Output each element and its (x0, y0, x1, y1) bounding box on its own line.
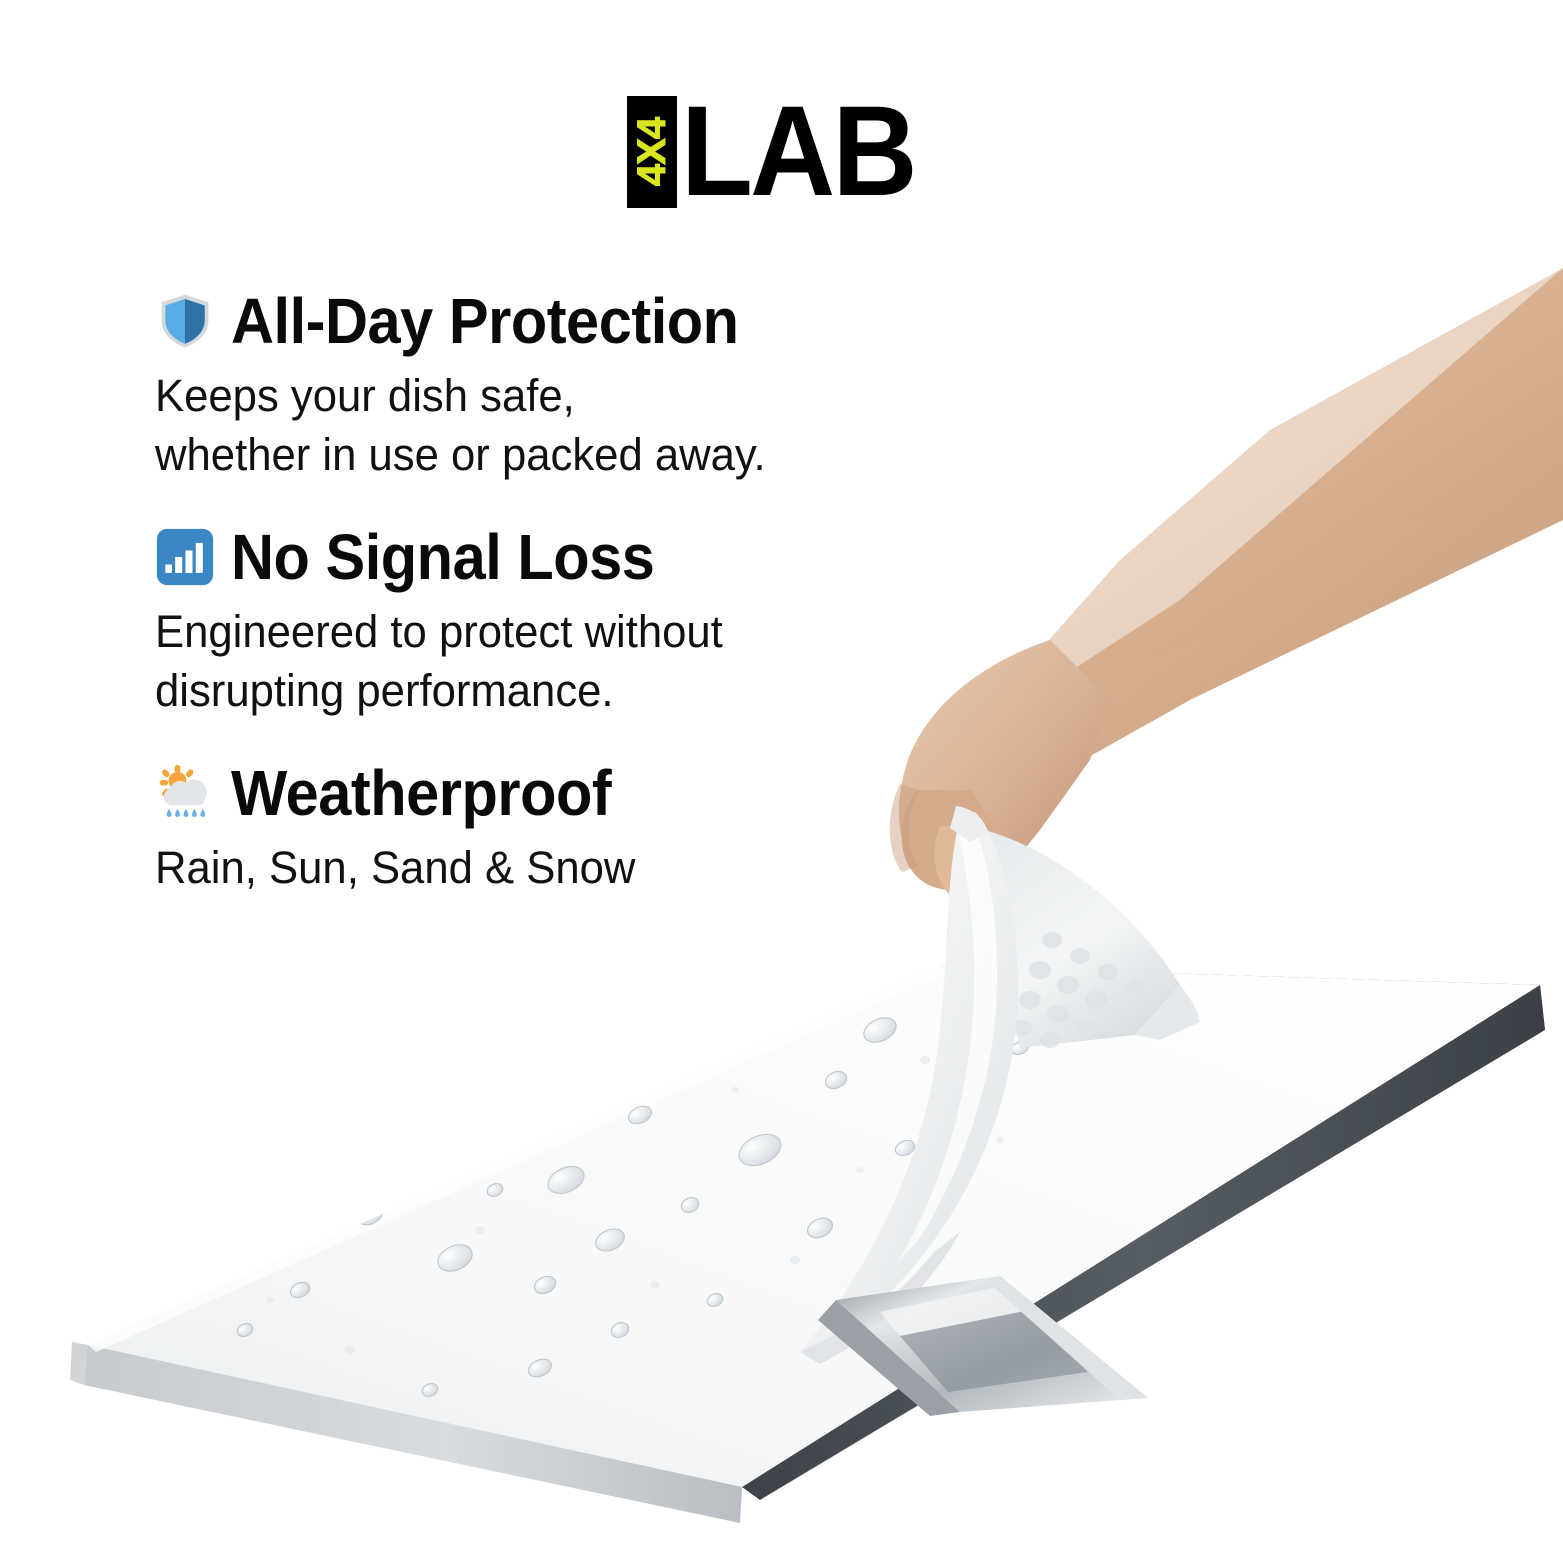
feature-no-signal-loss: No Signal Loss Engineered to protect wit… (155, 524, 875, 720)
brand-logo: 4X4 LAB (0, 92, 1563, 212)
feature-description: Keeps your dish safe, whether in use or … (155, 366, 853, 484)
hand-lifting-cover (890, 268, 1563, 913)
feature-title: All-Day Protection (231, 288, 739, 354)
signal-bars-icon (155, 527, 215, 587)
feature-description: Engineered to protect without disrupting… (155, 602, 853, 720)
feature-title: Weatherproof (231, 760, 611, 826)
dish-kickstand (818, 1276, 1148, 1416)
feature-heading-row: All-Day Protection (155, 288, 875, 354)
feature-weatherproof: Weatherproof Rain, Sun, Sand & Snow (155, 760, 875, 897)
logo-badge-text: 4X4 (632, 118, 672, 186)
feature-list: All-Day Protection Keeps your dish safe,… (155, 288, 875, 933)
feature-heading-row: No Signal Loss (155, 524, 875, 590)
feature-heading-row: Weatherproof (155, 760, 875, 826)
sun-behind-rain-cloud-icon (155, 763, 215, 823)
satellite-dish (70, 966, 1545, 1523)
logo-badge: 4X4 (627, 96, 677, 208)
feature-description: Rain, Sun, Sand & Snow (155, 838, 853, 897)
water-droplets (187, 1013, 1031, 1399)
feature-title: No Signal Loss (231, 524, 654, 590)
shield-icon (155, 291, 215, 351)
logo-wordmark: LAB (681, 96, 915, 208)
feature-all-day-protection: All-Day Protection Keeps your dish safe,… (155, 288, 875, 484)
cover-dimple-texture (1012, 932, 1145, 1048)
